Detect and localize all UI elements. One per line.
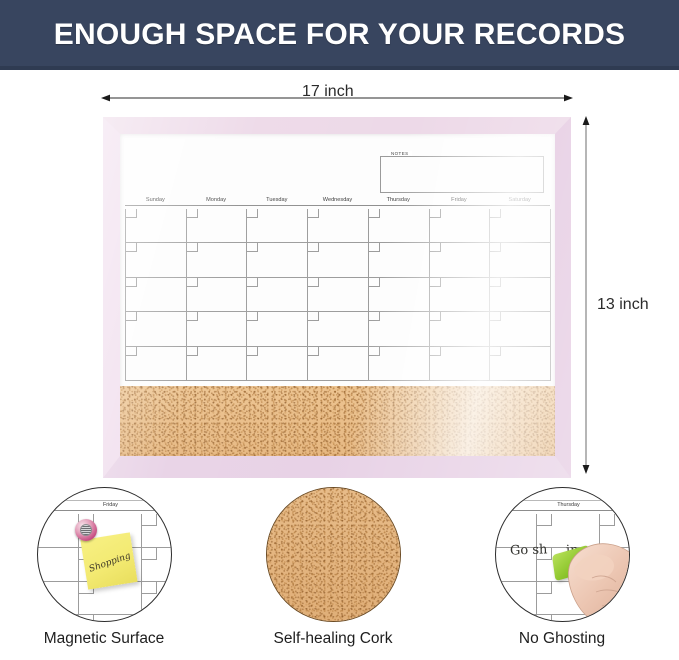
mini-day-cell xyxy=(142,514,171,547)
date-number-box[interactable] xyxy=(490,278,501,287)
date-number-box[interactable] xyxy=(490,243,501,252)
mini-weekday-blank-right xyxy=(600,501,629,510)
calendar-week-row xyxy=(126,278,551,312)
date-number-box[interactable] xyxy=(308,209,319,218)
calendar-day-cell[interactable] xyxy=(126,347,187,380)
date-number-box[interactable] xyxy=(369,347,380,356)
mini-date-number-box xyxy=(142,582,157,594)
mini-date-number-box xyxy=(600,514,615,526)
weekday-saturday: Saturday xyxy=(489,197,550,205)
mini-notes-box xyxy=(510,487,630,497)
calendar-day-cell[interactable] xyxy=(308,347,369,380)
mini-day-cell xyxy=(142,615,171,622)
mini-weekday-row: Thursday xyxy=(495,500,630,511)
date-number-box[interactable] xyxy=(369,243,380,252)
feature-circle-cork xyxy=(266,487,401,622)
dry-erase-calendar: NOTES Sunday Monday Tuesday Wednesday Th… xyxy=(125,137,550,381)
date-number-box[interactable] xyxy=(126,243,137,252)
mini-day-cell xyxy=(37,615,79,622)
mini-day-cell xyxy=(37,582,79,615)
sticky-note: Shopping xyxy=(80,532,137,589)
weekday-sunday: Sunday xyxy=(125,197,186,205)
calendar-day-cell[interactable] xyxy=(308,209,369,242)
calendar-day-cell[interactable] xyxy=(490,243,551,276)
date-number-box[interactable] xyxy=(187,278,198,287)
date-number-box[interactable] xyxy=(490,209,501,218)
date-number-box[interactable] xyxy=(247,209,258,218)
calendar-day-cell[interactable] xyxy=(308,278,369,311)
calendar-day-cell[interactable] xyxy=(369,209,430,242)
feature-circle-ghosting: Thursday Go sh in xyxy=(495,487,630,622)
weekday-thursday: Thursday xyxy=(368,197,429,205)
calendar-day-cell[interactable] xyxy=(490,209,551,242)
date-number-box[interactable] xyxy=(308,312,319,321)
hand-illustration xyxy=(562,534,630,622)
calendar-day-cell[interactable] xyxy=(430,243,491,276)
mini-date-number-box xyxy=(537,582,552,594)
mini-date-number-box xyxy=(537,615,552,622)
notes-label: NOTES xyxy=(388,151,412,156)
calendar-day-cell[interactable] xyxy=(308,312,369,345)
calendar-day-cell[interactable] xyxy=(430,209,491,242)
feature-label-magnetic: Magnetic Surface xyxy=(14,630,194,648)
mini-week-row xyxy=(37,615,172,622)
calendar-day-cell[interactable] xyxy=(430,312,491,345)
feature-circle-magnetic: Thursday Friday Saturday Shopping xyxy=(37,487,172,622)
mini-notes-box xyxy=(52,487,172,497)
date-number-box[interactable] xyxy=(126,312,137,321)
feature-no-ghosting: Thursday Go sh in xyxy=(472,487,652,648)
date-number-box[interactable] xyxy=(126,209,137,218)
mini-date-number-box xyxy=(142,548,157,560)
mini-day-cell xyxy=(79,615,142,622)
mini-day-cell xyxy=(495,514,537,547)
date-number-box[interactable] xyxy=(430,278,441,287)
calendar-day-cell[interactable] xyxy=(187,312,248,345)
calendar-day-cell[interactable] xyxy=(247,278,308,311)
calendar-day-cell[interactable] xyxy=(126,209,187,242)
date-number-box[interactable] xyxy=(430,243,441,252)
mini-date-number-box xyxy=(79,615,94,622)
mini-date-number-box xyxy=(537,514,552,526)
header-banner: ENOUGH SPACE FOR YOUR RECORDS xyxy=(0,0,679,70)
date-number-box[interactable] xyxy=(126,347,137,356)
weekday-friday: Friday xyxy=(429,197,490,205)
calendar-day-cell[interactable] xyxy=(187,243,248,276)
calendar-day-cell[interactable] xyxy=(187,209,248,242)
date-number-box[interactable] xyxy=(247,278,258,287)
date-number-box[interactable] xyxy=(247,243,258,252)
calendar-day-cell[interactable] xyxy=(430,278,491,311)
height-dimension-arrow xyxy=(580,116,592,474)
date-number-box[interactable] xyxy=(187,209,198,218)
height-dimension-label: 13 inch xyxy=(597,296,649,314)
date-number-box[interactable] xyxy=(308,278,319,287)
mini-date-number-box xyxy=(142,615,157,622)
date-number-box[interactable] xyxy=(369,209,380,218)
mini-weekday-friday: Friday xyxy=(79,501,142,510)
calendar-day-cell[interactable] xyxy=(126,312,187,345)
weekday-header-row: Sunday Monday Tuesday Wednesday Thursday… xyxy=(125,197,550,206)
calendar-day-cell[interactable] xyxy=(247,243,308,276)
calendar-day-cell[interactable] xyxy=(369,243,430,276)
date-number-box[interactable] xyxy=(187,312,198,321)
calendar-day-cell[interactable] xyxy=(490,347,551,380)
calendar-day-cell[interactable] xyxy=(308,243,369,276)
date-number-box[interactable] xyxy=(308,243,319,252)
sticky-note-text: Shopping xyxy=(87,551,131,575)
mini-date-number-box xyxy=(142,514,157,526)
magnet-core xyxy=(80,524,92,536)
cork-texture-swatch xyxy=(267,488,400,621)
weekday-monday: Monday xyxy=(186,197,247,205)
date-number-box[interactable] xyxy=(430,312,441,321)
round-magnet-icon xyxy=(75,519,97,541)
date-number-box[interactable] xyxy=(187,243,198,252)
calendar-day-cell[interactable] xyxy=(187,347,248,380)
date-number-box[interactable] xyxy=(187,347,198,356)
feature-label-ghosting: No Ghosting xyxy=(472,630,652,648)
date-number-box[interactable] xyxy=(369,278,380,287)
date-number-box[interactable] xyxy=(308,347,319,356)
whiteboard-product-image: NOTES Sunday Monday Tuesday Wednesday Th… xyxy=(103,117,571,478)
date-number-box[interactable] xyxy=(369,312,380,321)
page-title: ENOUGH SPACE FOR YOUR RECORDS xyxy=(54,20,625,50)
feature-magnetic-surface: Thursday Friday Saturday Shopping Magnet… xyxy=(14,487,194,648)
calendar-day-cell[interactable] xyxy=(369,312,430,345)
calendar-day-cell[interactable] xyxy=(369,278,430,311)
mini-weekday-row: Thursday Friday Saturday xyxy=(37,500,172,511)
mini-weekday-thursday: Thursday xyxy=(537,501,600,510)
mini-weekday-blank-left xyxy=(495,501,537,510)
mini-day-cell xyxy=(37,514,79,547)
date-number-box[interactable] xyxy=(490,312,501,321)
header-bottom-band xyxy=(0,66,679,70)
calendar-week-row xyxy=(126,243,551,277)
calendar-day-cell[interactable] xyxy=(247,209,308,242)
date-number-box[interactable] xyxy=(430,347,441,356)
mini-day-cell xyxy=(142,548,171,581)
feature-self-healing-cork: Self-healing Cork xyxy=(243,487,423,648)
calendar-day-cell[interactable] xyxy=(490,278,551,311)
notes-box[interactable]: NOTES xyxy=(380,156,544,193)
weekday-wednesday: Wednesday xyxy=(307,197,368,205)
calendar-grid xyxy=(125,209,551,381)
calendar-day-cell[interactable] xyxy=(369,347,430,380)
feature-label-cork: Self-healing Cork xyxy=(243,630,423,648)
width-dimension-arrow xyxy=(101,92,573,104)
handwriting-left-fragment: Go sh xyxy=(509,542,547,558)
calendar-day-cell[interactable] xyxy=(247,347,308,380)
date-number-box[interactable] xyxy=(247,312,258,321)
mini-day-cell xyxy=(495,615,537,622)
mini-weekday-thursday: Thursday xyxy=(37,501,79,510)
mini-day-cell xyxy=(142,582,171,615)
calendar-day-cell[interactable] xyxy=(126,243,187,276)
mini-day-cell xyxy=(37,548,79,581)
cork-board-strip xyxy=(120,386,555,456)
date-number-box[interactable] xyxy=(490,347,501,356)
date-number-box[interactable] xyxy=(126,278,137,287)
calendar-day-cell[interactable] xyxy=(430,347,491,380)
date-number-box[interactable] xyxy=(430,209,441,218)
calendar-day-cell[interactable] xyxy=(187,278,248,311)
calendar-week-row xyxy=(126,347,551,381)
calendar-day-cell[interactable] xyxy=(247,312,308,345)
calendar-day-cell[interactable] xyxy=(490,312,551,345)
weekday-tuesday: Tuesday xyxy=(246,197,307,205)
mini-day-cell xyxy=(495,582,537,615)
board-surface: NOTES Sunday Monday Tuesday Wednesday Th… xyxy=(120,134,555,456)
calendar-day-cell[interactable] xyxy=(126,278,187,311)
mini-weekday-saturday: Saturday xyxy=(142,501,171,510)
calendar-week-row xyxy=(126,209,551,243)
date-number-box[interactable] xyxy=(247,347,258,356)
calendar-week-row xyxy=(126,312,551,346)
